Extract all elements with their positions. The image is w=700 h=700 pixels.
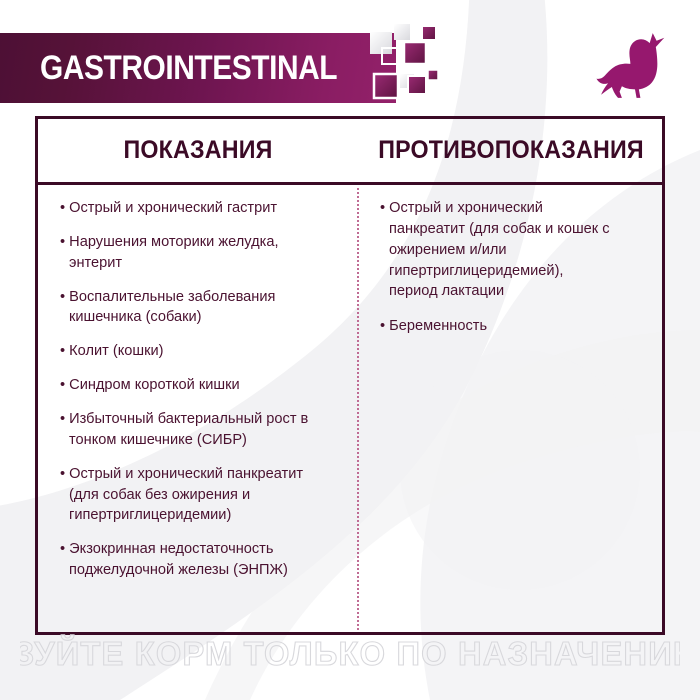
list-item: • Беременность xyxy=(380,316,610,337)
poster-canvas: GASTROINTESTINAL ПОКАЗАНИЯ ПРОТИВОПОКАЗА… xyxy=(0,0,700,700)
table-column-divider xyxy=(357,188,359,630)
list-item: • Колит (кошки) xyxy=(60,341,335,362)
page-title: GASTROINTESTINAL xyxy=(40,51,337,85)
list-item: • Нарушения моторики желудка, энтерит xyxy=(60,232,335,274)
list-item: • Синдром короткой кишки xyxy=(60,375,335,396)
list-item: • Острый и хронический панкреатит (для с… xyxy=(60,464,335,527)
column-header-indications: ПОКАЗАНИЯ xyxy=(49,136,347,165)
list-item: • Экзокринная недостаточность поджелудоч… xyxy=(60,539,335,581)
list-item: • Острый и хронический гастрит xyxy=(60,198,335,219)
table-header-separator xyxy=(35,182,665,185)
decorative-squares-icon xyxy=(360,18,450,118)
footer-disclaimer: ИСПОЛЬЗУЙТЕ КОРМ ТОЛЬКО ПО НАЗНАЧЕНИЮ ВР… xyxy=(0,632,700,676)
header-banner: GASTROINTESTINAL xyxy=(0,33,396,103)
list-item: • Острый и хронический панкреатит (для с… xyxy=(380,198,610,302)
list-item: • Воспалительные заболевания кишечника (… xyxy=(60,287,335,329)
indications-list: • Острый и хронический гастрит • Нарушен… xyxy=(60,198,335,594)
contraindications-list: • Острый и хронический панкреатит (для с… xyxy=(380,198,610,351)
footer-disclaimer-text: ИСПОЛЬЗУЙТЕ КОРМ ТОЛЬКО ПО НАЗНАЧЕНИЮ ВР… xyxy=(20,634,680,672)
list-item: • Избыточный бактериальный рост в тонком… xyxy=(60,409,335,451)
column-header-contraindications: ПРОТИВОПОКАЗАНИЯ xyxy=(371,136,652,165)
cat-silhouette-icon xyxy=(596,30,674,104)
